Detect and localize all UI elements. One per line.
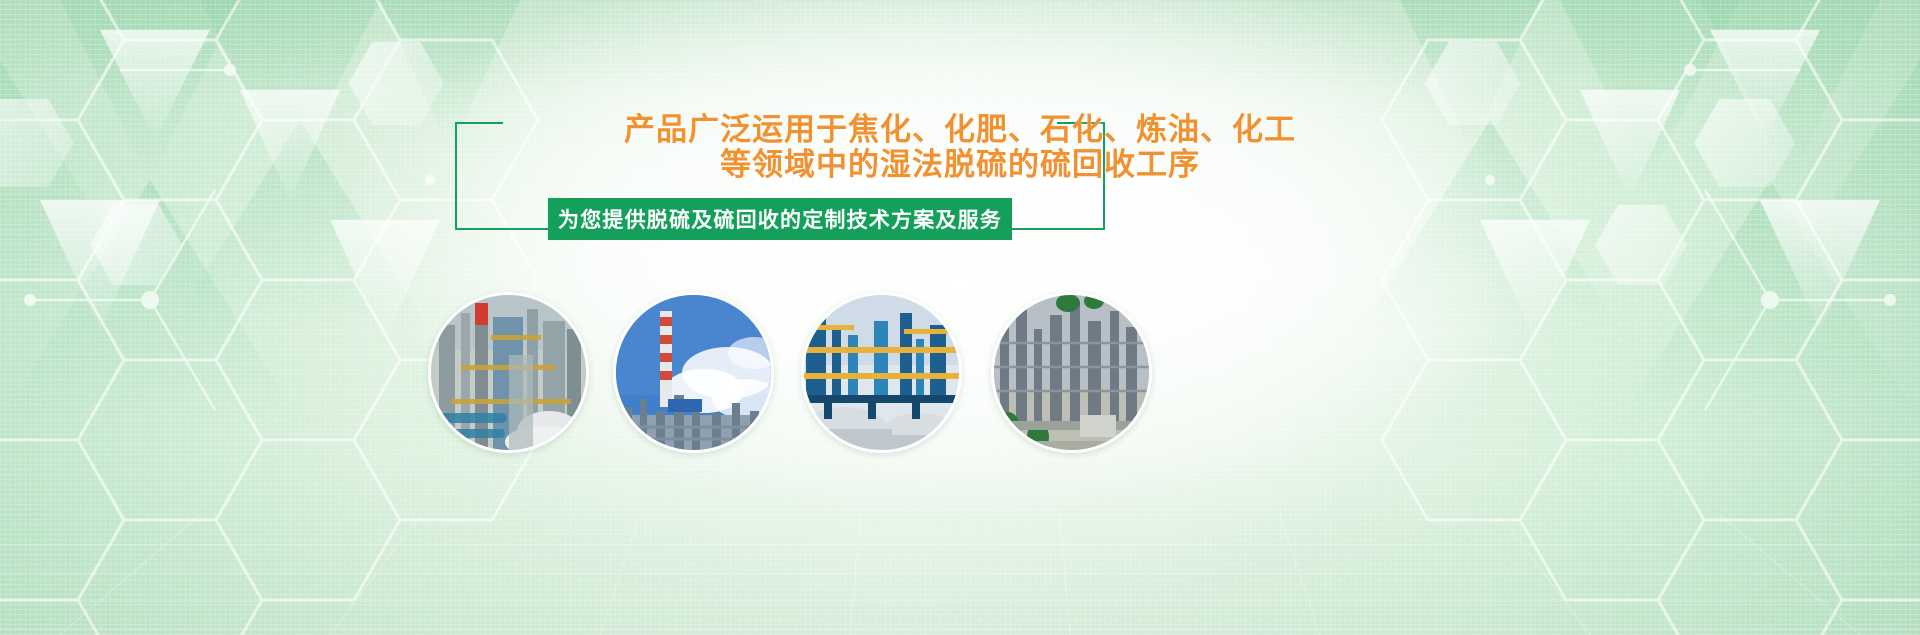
subtitle-banner: 为您提供脱硫及硫回收的定制技术方案及服务 [548, 198, 1012, 240]
headline-text: 产品广泛运用于焦化、化肥、石化、炼油、化工 等领域中的湿法脱硫的硫回收工序 [0, 112, 1920, 182]
photo-desulfurization-plant [428, 292, 589, 453]
headline-line-2: 等领域中的湿法脱硫的硫回收工序 [0, 147, 1920, 182]
frame-bottom-right-segment [1010, 228, 1105, 230]
subtitle-text: 为您提供脱硫及硫回收的定制技术方案及服务 [558, 204, 1002, 234]
headline-block: 产品广泛运用于焦化、化肥、石化、炼油、化工 等领域中的湿法脱硫的硫回收工序 为您… [0, 0, 1920, 300]
photo-refinery-towers [991, 292, 1152, 453]
photo-chimney-stack [613, 292, 774, 453]
promo-banner: 产品广泛运用于焦化、化肥、石化、炼油、化工 等领域中的湿法脱硫的硫回收工序 为您… [0, 0, 1920, 635]
photo-storage-tanks [801, 292, 962, 453]
headline-line-1: 产品广泛运用于焦化、化肥、石化、炼油、化工 [624, 112, 1296, 147]
photo-strip [0, 292, 1920, 462]
background-floor-grid [0, 515, 1920, 635]
